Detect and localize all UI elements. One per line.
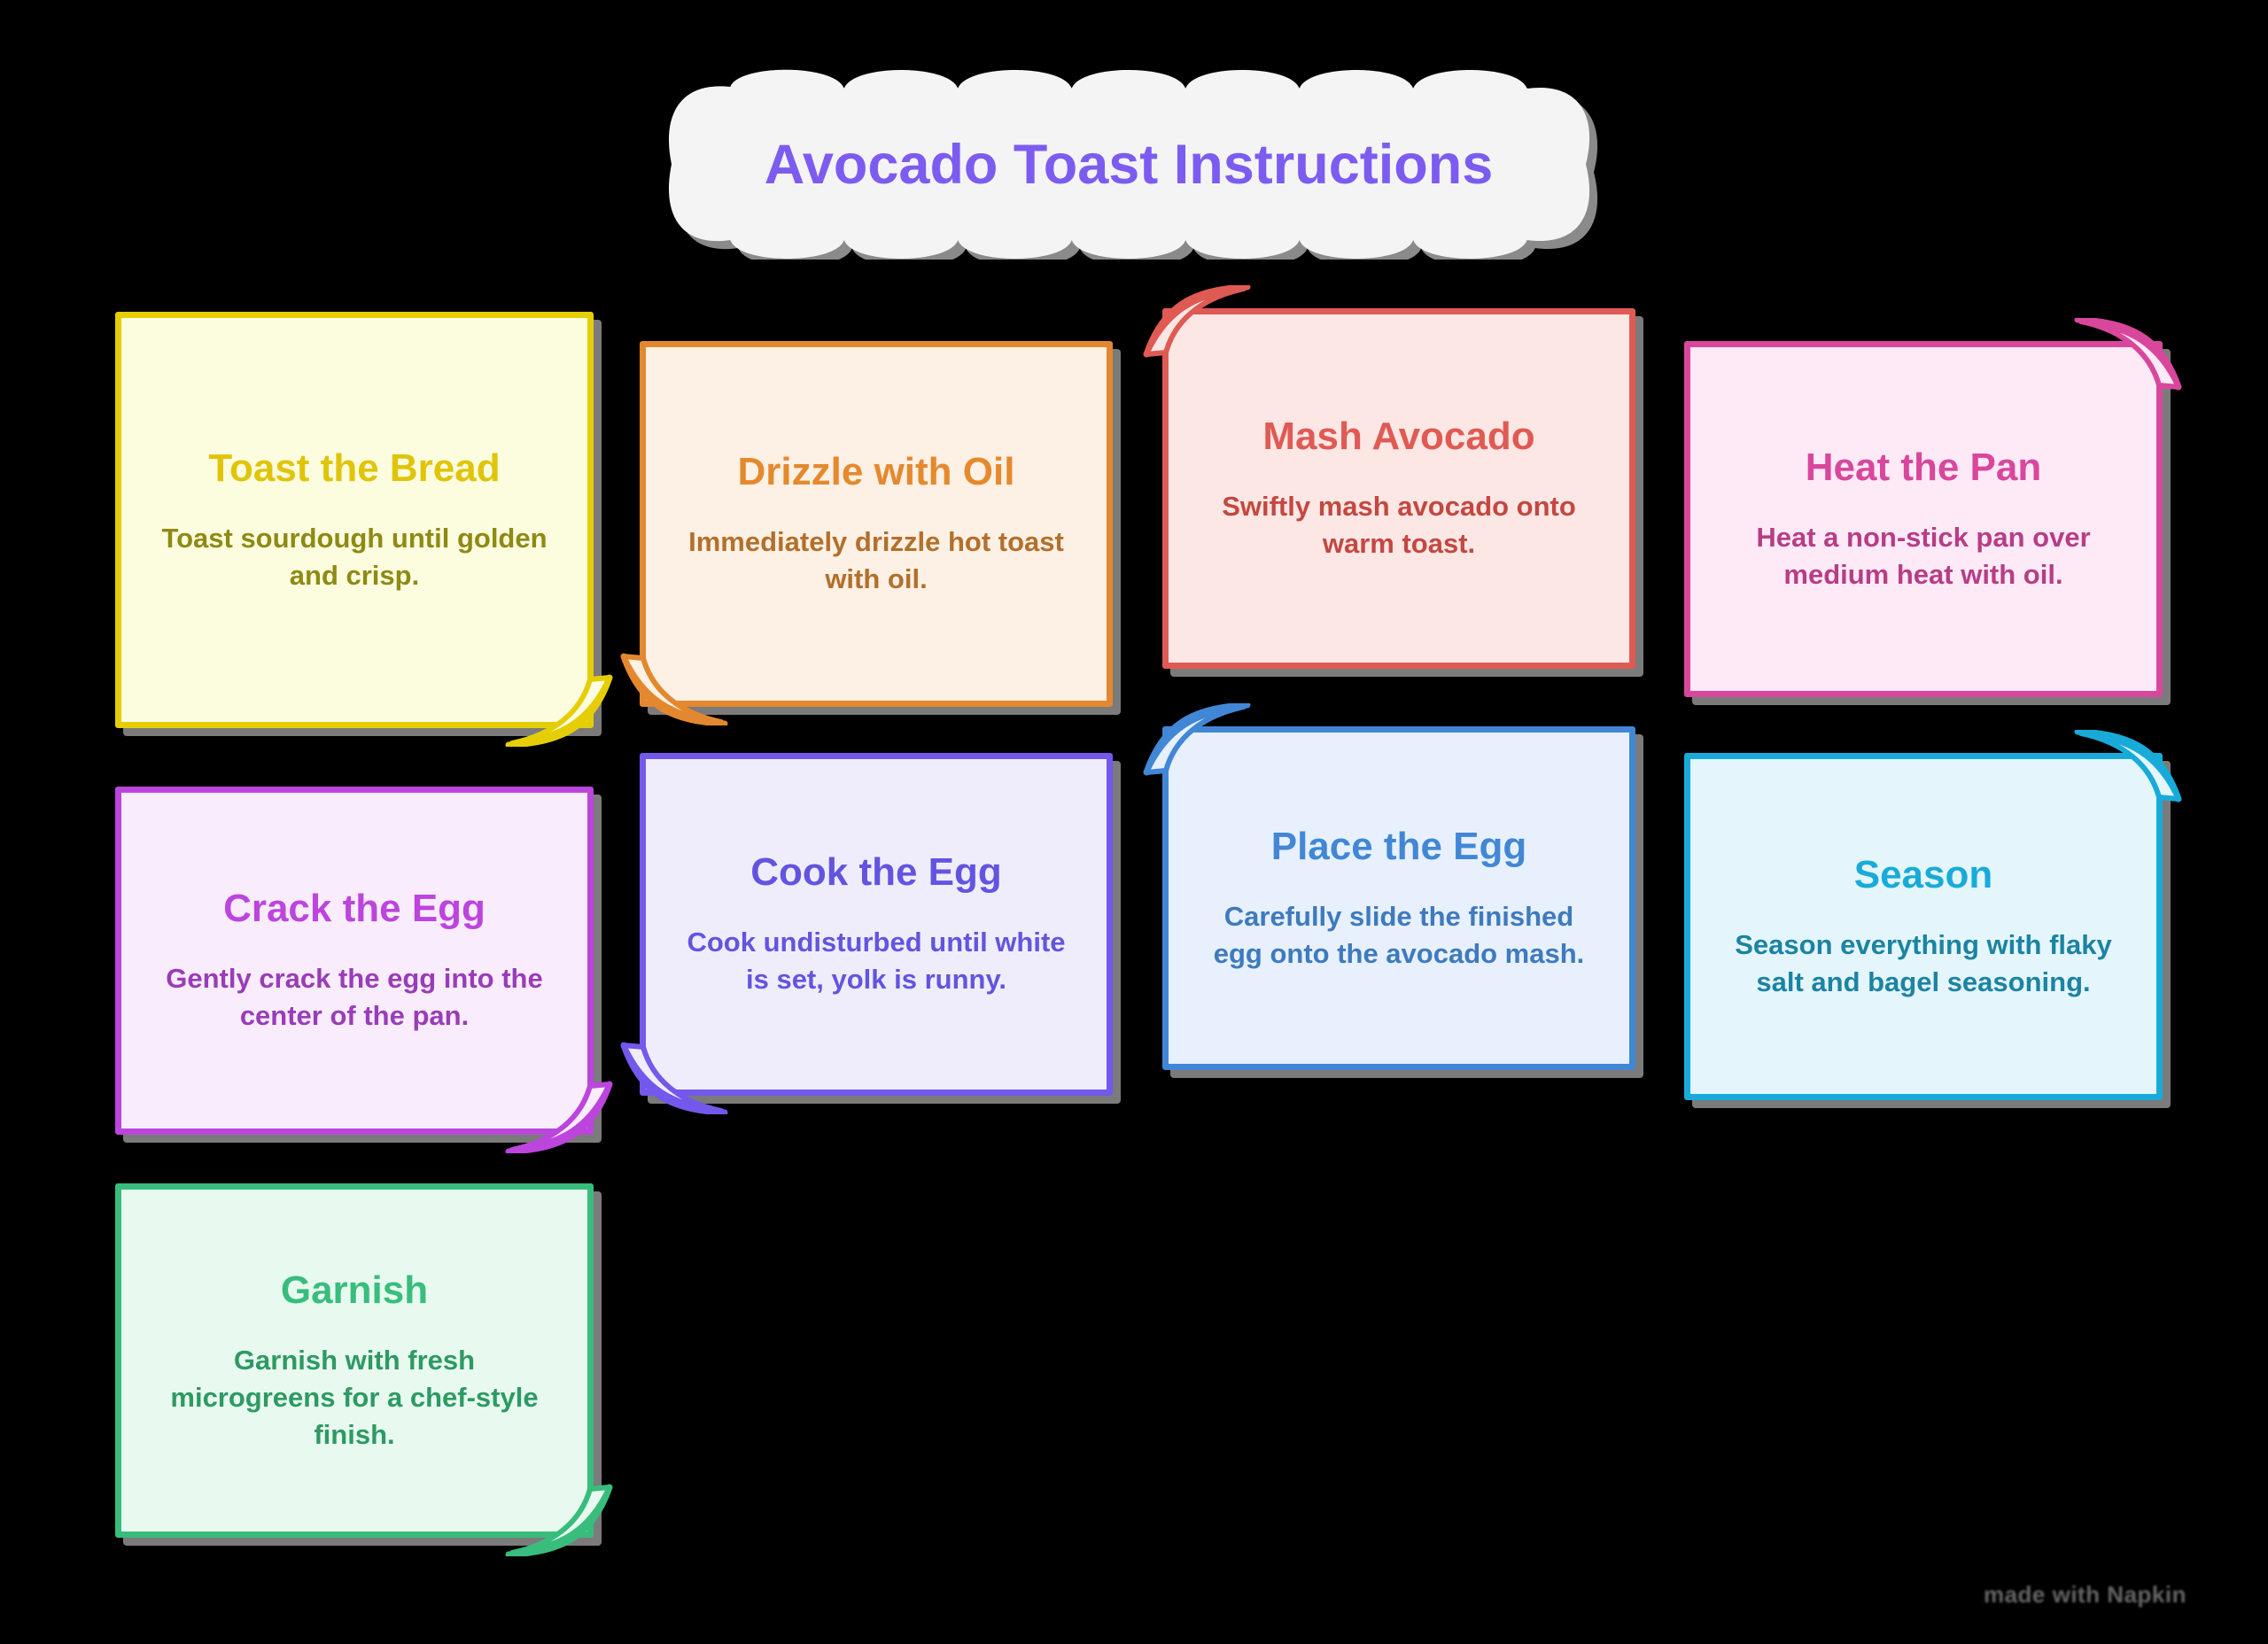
- card-body: GarnishGarnish with fresh microgreens fo…: [115, 1183, 594, 1538]
- card-description: Cook undisturbed until white is set, yol…: [676, 924, 1076, 998]
- step-card-mash-avocado[interactable]: Mash AvocadoSwiftly mash avocado onto wa…: [1162, 308, 1635, 669]
- step-card-place-the-egg[interactable]: Place the EggCarefully slide the finishe…: [1162, 726, 1635, 1070]
- card-title: Garnish: [281, 1268, 428, 1312]
- step-card-toast-the-bread[interactable]: Toast the BreadToast sourdough until gol…: [115, 312, 594, 728]
- title-cloud: Avocado Toast Instructions: [659, 69, 1598, 260]
- card-body: Toast the BreadToast sourdough until gol…: [115, 312, 594, 728]
- card-body: SeasonSeason everything with flaky salt …: [1684, 753, 2163, 1100]
- card-body: Cook the EggCook undisturbed until white…: [640, 753, 1113, 1096]
- card-title: Place the Egg: [1271, 825, 1527, 868]
- step-card-cook-the-egg[interactable]: Cook the EggCook undisturbed until white…: [640, 753, 1113, 1096]
- card-description: Immediately drizzle hot toast with oil.: [676, 523, 1076, 598]
- card-description: Swiftly mash avocado onto warm toast.: [1199, 488, 1599, 562]
- infographic-canvas: Avocado Toast Instructions Toast the Bre…: [0, 0, 2268, 1644]
- card-title: Drizzle with Oil: [738, 450, 1015, 493]
- card-body: Crack the EggGently crack the egg into t…: [115, 787, 594, 1135]
- card-description: Season everything with flaky salt and ba…: [1720, 927, 2126, 1001]
- card-body: Heat the PanHeat a non-stick pan over me…: [1684, 341, 2163, 697]
- card-title: Toast the Bread: [208, 446, 500, 490]
- card-body: Place the EggCarefully slide the finishe…: [1162, 726, 1635, 1070]
- card-body: Drizzle with OilImmediately drizzle hot …: [640, 341, 1113, 707]
- card-title: Cook the Egg: [750, 850, 1002, 894]
- card-body: Mash AvocadoSwiftly mash avocado onto wa…: [1162, 308, 1635, 669]
- watermark: made with Napkin: [1984, 1581, 2186, 1609]
- card-description: Garnish with fresh microgreens for a che…: [151, 1342, 557, 1454]
- step-card-garnish[interactable]: GarnishGarnish with fresh microgreens fo…: [115, 1183, 594, 1538]
- card-title: Mash Avocado: [1262, 415, 1534, 458]
- card-title: Season: [1854, 853, 1993, 896]
- card-title: Heat the Pan: [1806, 446, 2042, 489]
- step-card-drizzle-with-oil[interactable]: Drizzle with OilImmediately drizzle hot …: [640, 341, 1113, 707]
- card-description: Carefully slide the finished egg onto th…: [1199, 898, 1599, 973]
- step-card-season[interactable]: SeasonSeason everything with flaky salt …: [1684, 753, 2163, 1100]
- card-description: Gently crack the egg into the center of …: [151, 960, 557, 1035]
- page-title: Avocado Toast Instructions: [659, 69, 1598, 260]
- card-description: Heat a non-stick pan over medium heat wi…: [1720, 519, 2126, 593]
- card-description: Toast sourdough until golden and crisp.: [151, 520, 557, 594]
- step-card-heat-the-pan[interactable]: Heat the PanHeat a non-stick pan over me…: [1684, 341, 2163, 697]
- step-card-crack-the-egg[interactable]: Crack the EggGently crack the egg into t…: [115, 787, 594, 1135]
- card-title: Crack the Egg: [223, 887, 485, 930]
